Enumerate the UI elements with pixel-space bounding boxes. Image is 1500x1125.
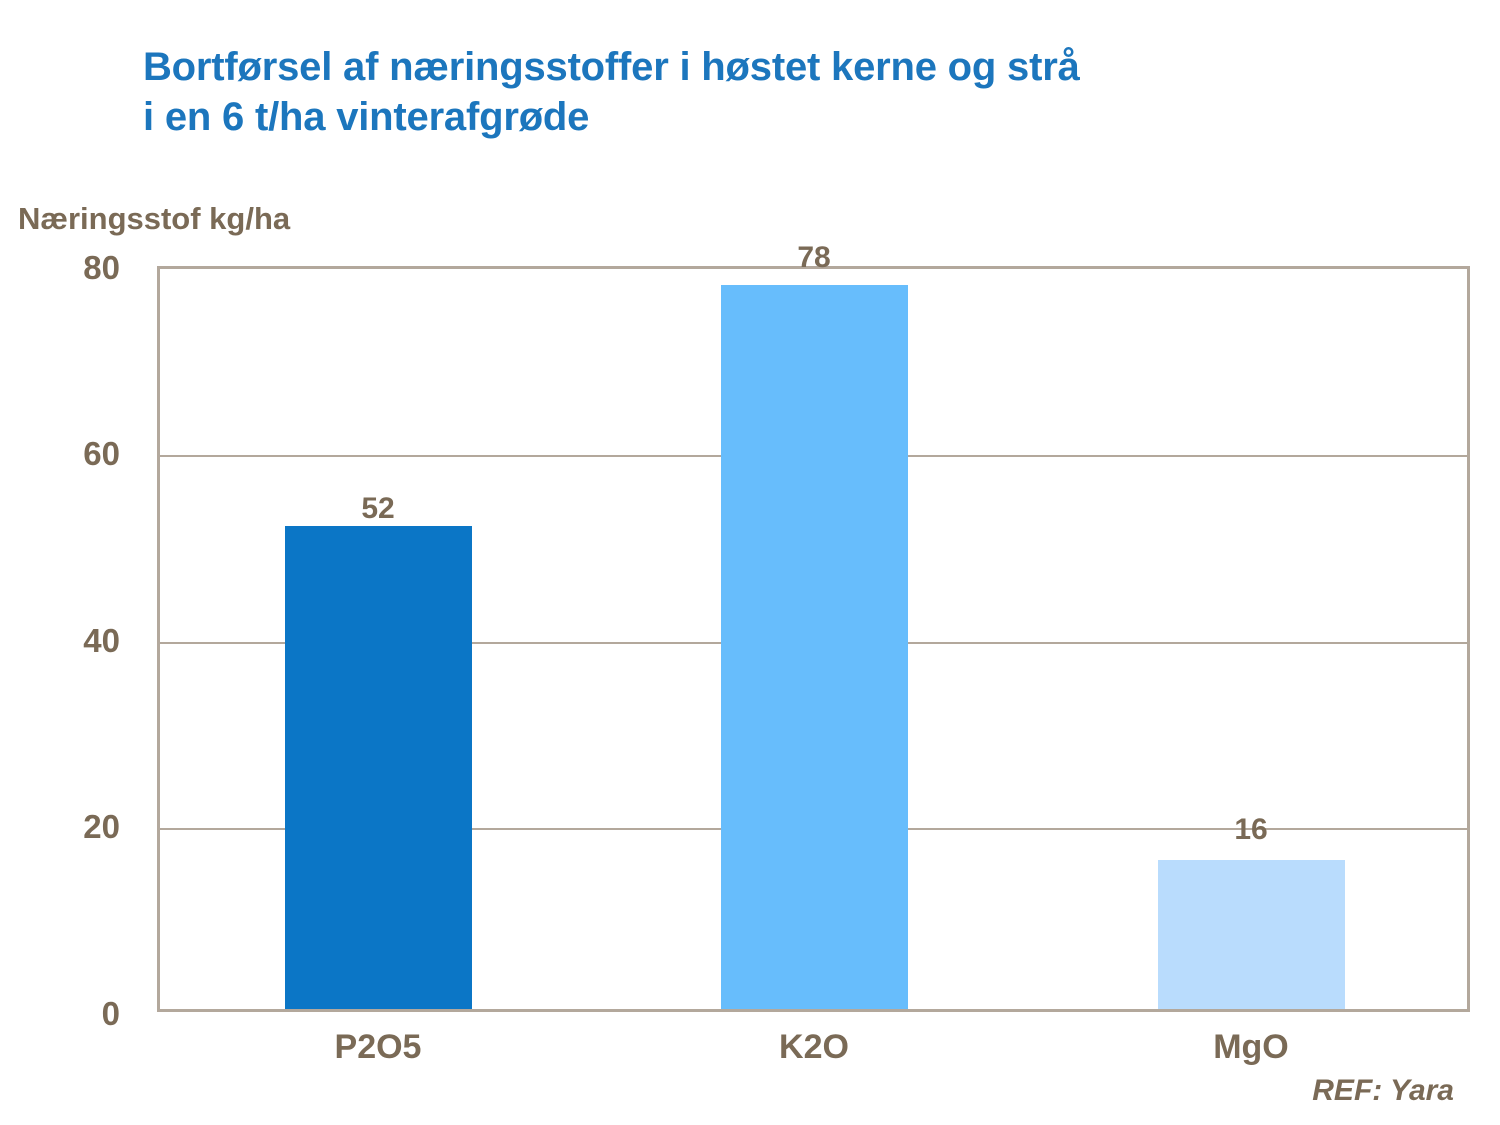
bar-value-p2o5: 52 [258,494,498,524]
x-category-label-p2o5: P2O5 [228,1030,528,1064]
bar-k2o[interactable] [721,285,908,1009]
bar-mgo[interactable] [1158,860,1345,1009]
x-category-label-mgo: MgO [1101,1030,1401,1064]
bar-p2o5[interactable] [285,526,472,1009]
y-tick-label-20: 20 [0,810,120,843]
title-line-2: i en 6 t/ha vinterafgrøde [143,92,1443,142]
y-axis-tick-group: 80 60 40 20 0 [0,0,140,1125]
y-tick-label-80: 80 [0,251,120,284]
page-title: Bortførsel af næringsstoffer i høstet ke… [143,42,1443,142]
bar-value-k2o: 78 [694,243,934,273]
source-reference: REF: Yara [1312,1074,1454,1108]
bar-value-mgo: 16 [1131,815,1371,845]
plot-area [157,266,1470,1012]
y-tick-label-60: 60 [0,437,120,470]
x-category-label-k2o: K2O [664,1030,964,1064]
title-line-1: Bortførsel af næringsstoffer i høstet ke… [143,42,1443,92]
y-tick-label-0: 0 [0,997,120,1030]
y-tick-label-40: 40 [0,624,120,657]
plot-inner [160,269,1467,1009]
